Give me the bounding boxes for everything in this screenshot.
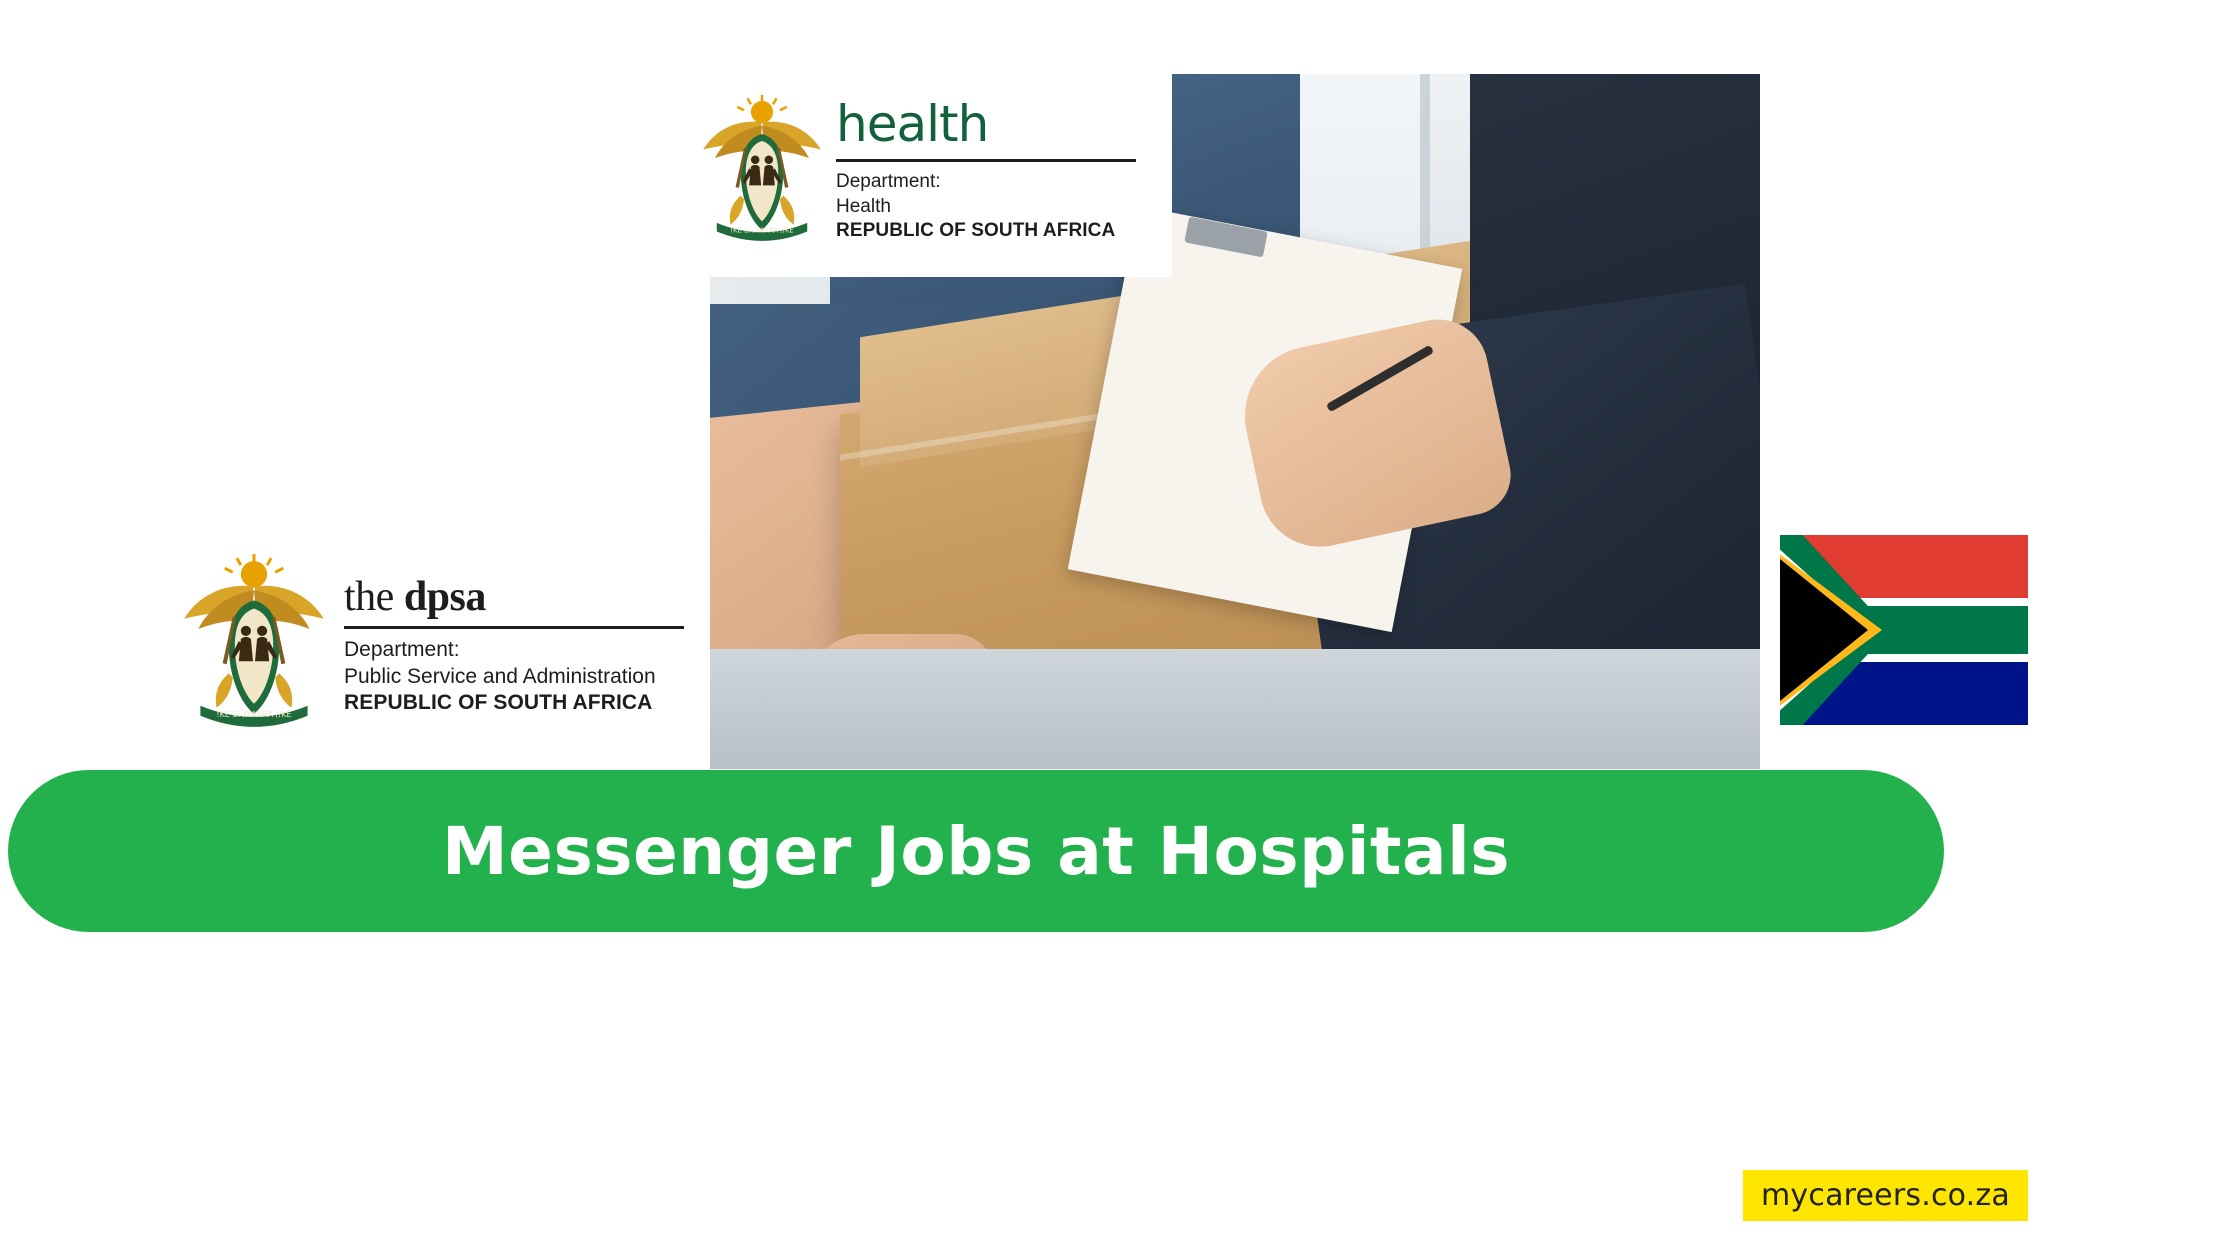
health-wordmark: health [836,99,1136,149]
dpsa-department-label: Department: [344,637,684,664]
site-watermark: mycareers.co.za [1743,1170,2028,1221]
dpsa-department-name: Public Service and Administration [344,664,684,691]
health-country-label: REPUBLIC OF SOUTH AFRICA [836,219,1136,244]
south-africa-coat-of-arms-icon: !KE E: /XARRA //KE [698,70,826,270]
south-africa-flag-icon [1780,535,2028,725]
health-department-label: Department: [836,170,1136,195]
dpsa-wordmark-bold: dpsa [404,574,486,620]
svg-text:!KE E: /XARRA //KE: !KE E: /XARRA //KE [730,226,793,234]
dpsa-wordmark: the dpsa [344,575,684,619]
page-title: Messenger Jobs at Hospitals [442,813,1510,890]
dpsa-divider [344,626,684,629]
banner-title-bar: Messenger Jobs at Hospitals [8,770,1944,932]
dpsa-logo-text: the dpsa Department: Public Service and … [344,569,684,718]
health-logo-text: health Department: Health REPUBLIC OF SO… [836,95,1136,244]
south-africa-coat-of-arms-icon: !KE E: /XARRA //KE [178,552,330,734]
health-department-name: Health [836,195,1136,220]
dpsa-wordmark-light: the [344,574,404,620]
job-banner: !KE E: /XARRA //KE the dpsa Department: … [0,0,2240,1260]
svg-text:!KE E: /XARRA //KE: !KE E: /XARRA //KE [216,709,291,719]
dpsa-logo: !KE E: /XARRA //KE the dpsa Department: … [178,548,678,738]
health-department-logo: !KE E: /XARRA //KE health Department: He… [692,62,1172,277]
dpsa-country-label: REPUBLIC OF SOUTH AFRICA [344,690,684,717]
health-divider [836,159,1136,162]
photo-floor [710,649,1760,769]
